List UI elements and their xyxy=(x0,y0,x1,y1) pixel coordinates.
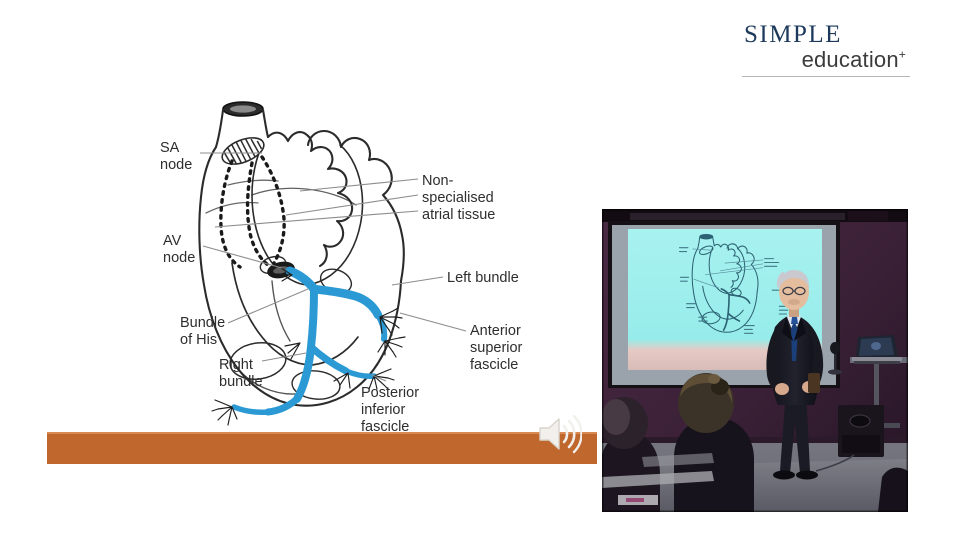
brand-superscript: + xyxy=(899,48,906,62)
brand-divider xyxy=(742,76,910,77)
heart-conduction-diagram xyxy=(0,85,600,445)
label-non-specialised-atrial-tissue: Non- specialised atrial tissue xyxy=(422,173,495,224)
brand-name-secondary: education+ xyxy=(742,48,910,72)
lecture-video-frame xyxy=(602,209,908,512)
label-sa-node: SA node xyxy=(160,140,192,174)
playback-progress-bar[interactable] xyxy=(47,432,597,464)
lecture-video-player[interactable] xyxy=(602,209,908,512)
label-posterior-inferior-fascicle: Posterior inferior fascicle xyxy=(361,385,419,436)
slide-content: SA node AV node Non- specialised atrial … xyxy=(0,85,600,445)
brand-name-primary: SIMPLE xyxy=(742,22,910,48)
speaker-volume-icon[interactable] xyxy=(534,412,582,456)
label-anterior-superior-fascicle: Anterior superior fascicle xyxy=(470,323,522,374)
sa-node-marker xyxy=(218,133,267,170)
label-right-bundle: Right bundle xyxy=(219,357,263,391)
label-av-node: AV node xyxy=(163,233,195,267)
label-bundle-of-his: Bundle of His xyxy=(180,315,225,349)
brand-logo: SIMPLE education+ xyxy=(742,22,910,77)
label-left-bundle: Left bundle xyxy=(447,270,519,287)
